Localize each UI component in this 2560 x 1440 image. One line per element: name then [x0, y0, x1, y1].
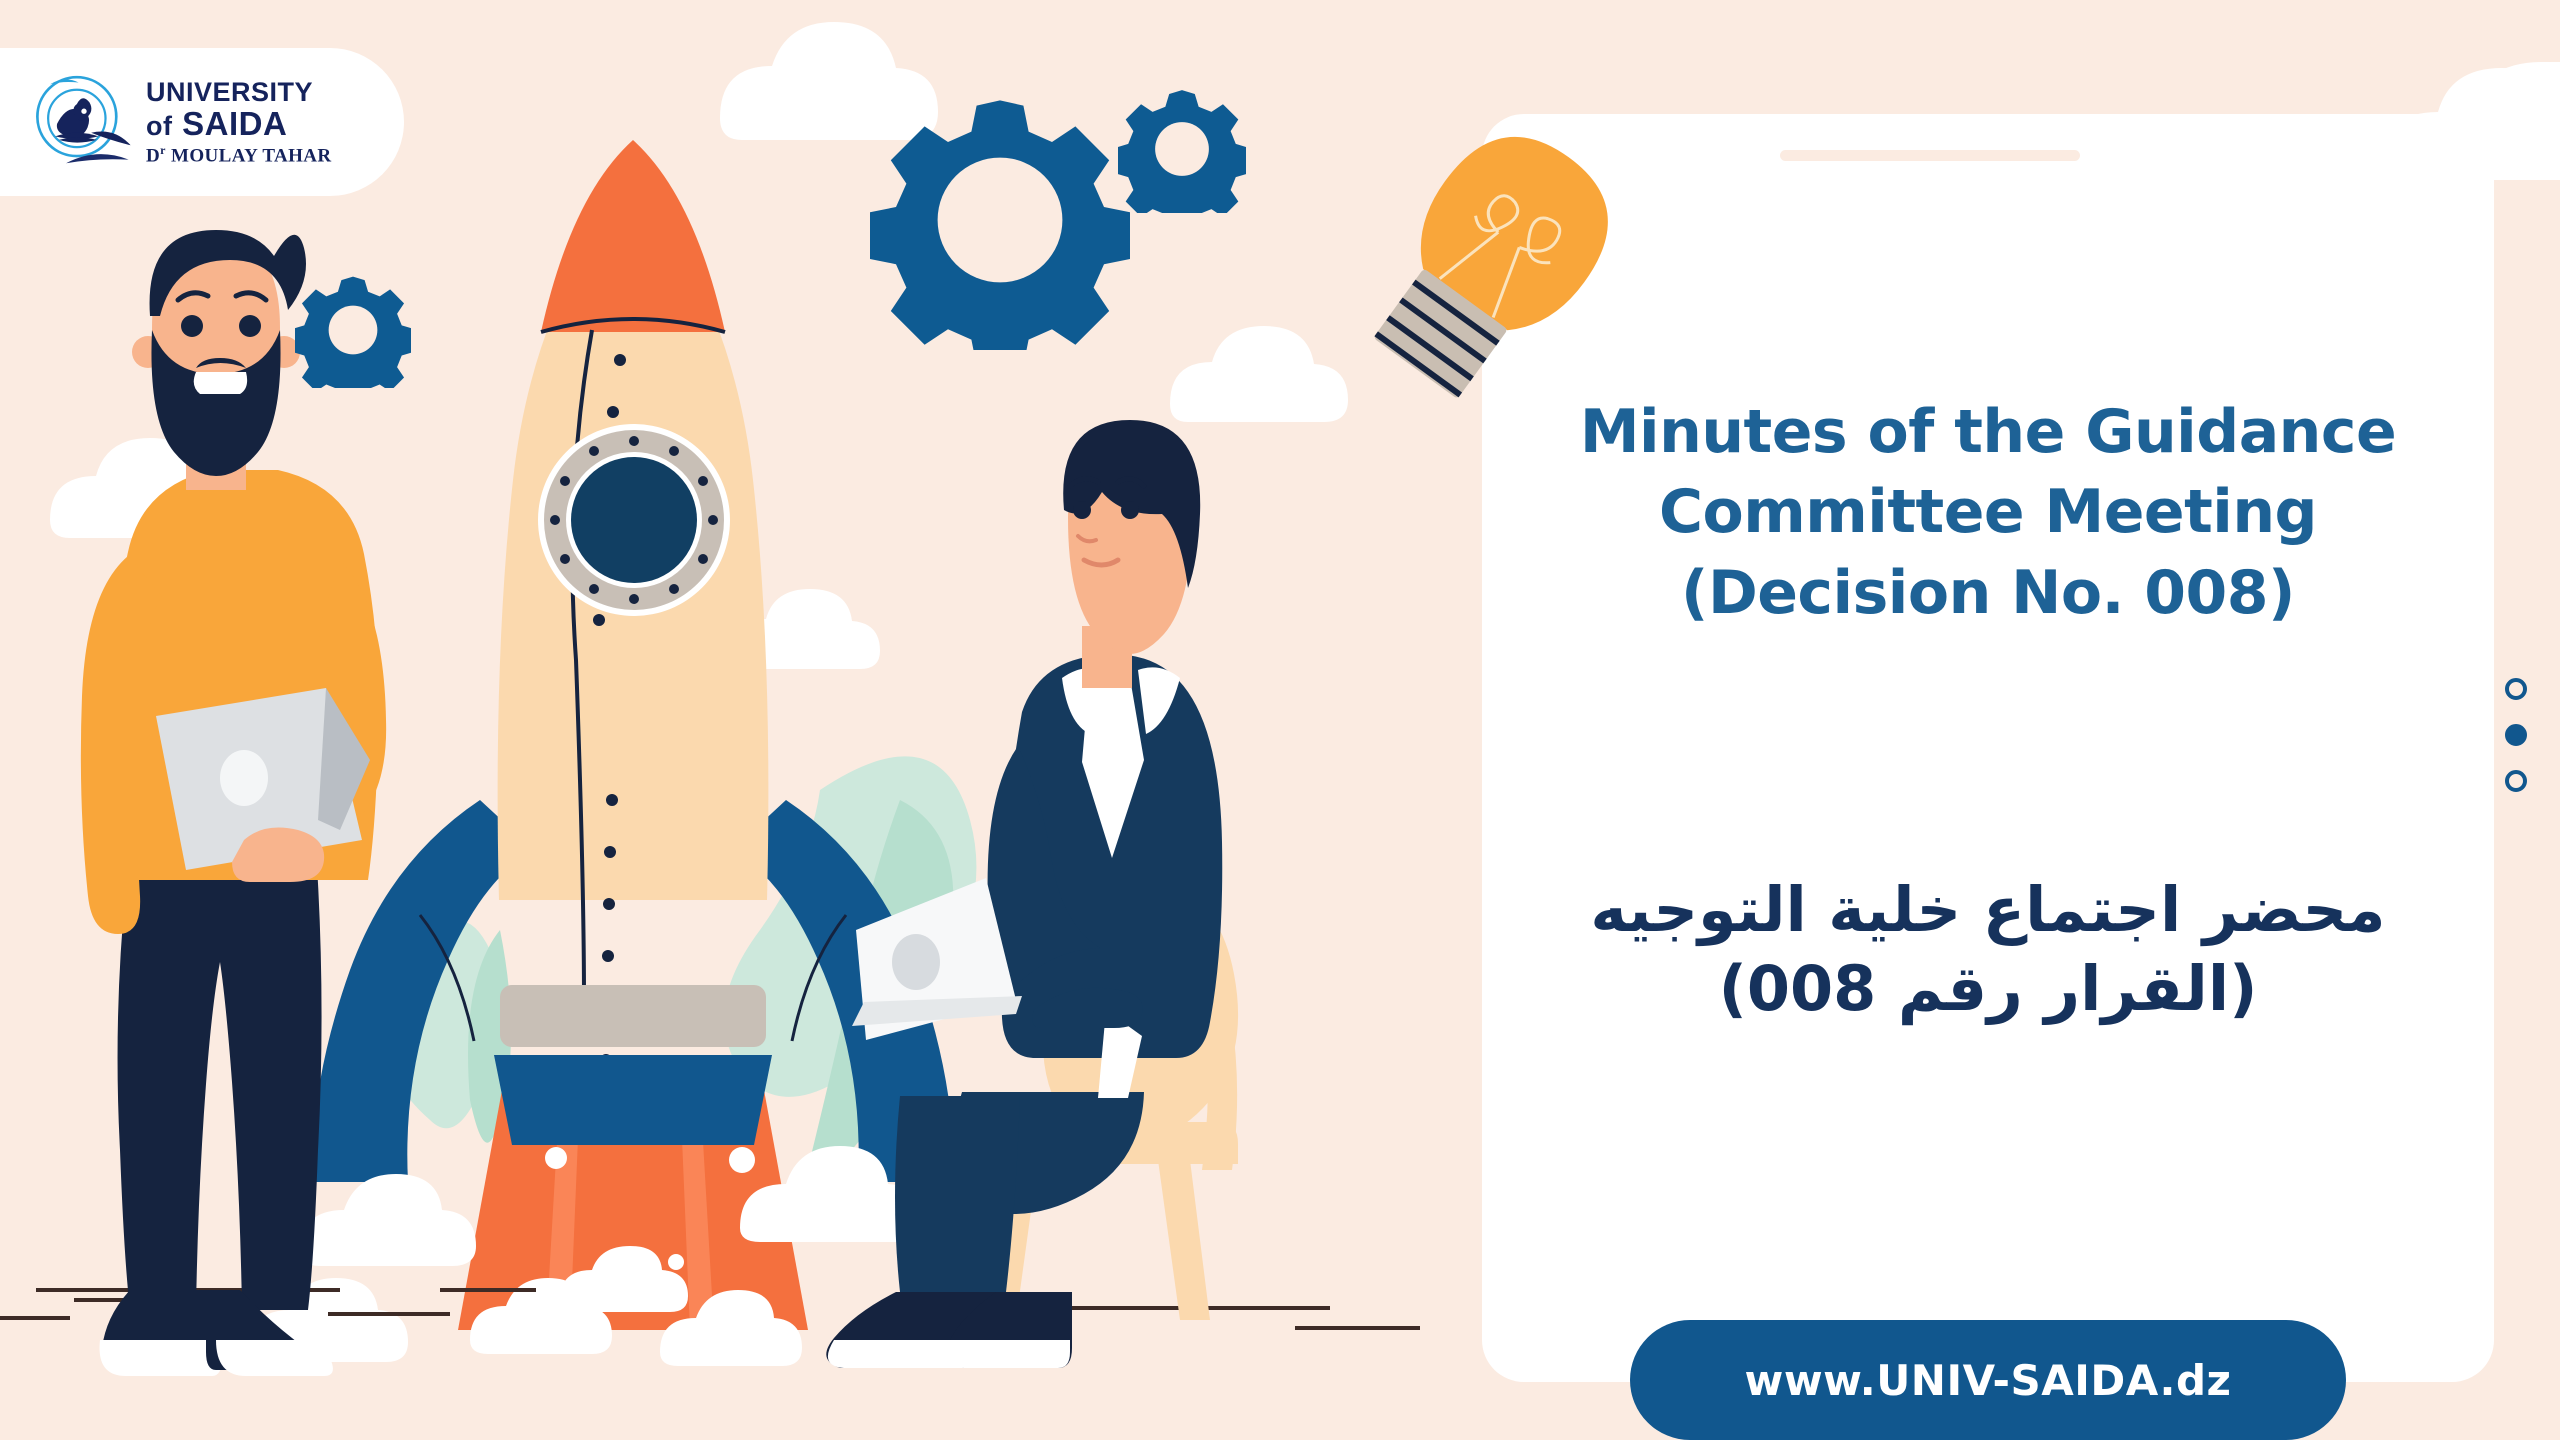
logo-line-moulay-tahar: Dr MOULAY TAHAR [146, 144, 332, 165]
gear-small-left-icon [295, 272, 411, 388]
standing-man-with-laptop [81, 230, 386, 1376]
university-logo-badge[interactable]: UNIVERSITY of SAIDA Dr MOULAY TAHAR [0, 48, 404, 196]
carousel-dot-1[interactable] [2505, 678, 2527, 700]
logo-line-of-saida: of SAIDA [146, 107, 332, 140]
logo-moulay-tahar: MOULAY TAHAR [166, 145, 332, 166]
lightbulb-icon [1352, 116, 1642, 416]
logo-dr-prefix: D [146, 145, 160, 166]
gear-small-top-icon [1118, 85, 1246, 213]
logo-line-university: UNIVERSITY [146, 79, 332, 106]
card-decor-bar [1780, 150, 2080, 161]
rocket-body [494, 140, 772, 1145]
carousel-dot-3[interactable] [2505, 770, 2527, 792]
gear-large-icon [870, 90, 1130, 350]
poster-canvas: Minutes of the Guidance Committee Meetin… [0, 0, 2560, 1440]
logo-saida: SAIDA [182, 105, 287, 142]
carousel-dots[interactable] [2505, 678, 2527, 816]
page-title-arabic: محضر اجتماع خلية التوجيه (القرار رقم 008… [1522, 870, 2454, 1029]
website-button[interactable]: www.UNIV-SAIDA.dz [1630, 1320, 2346, 1440]
university-emblem-icon [30, 70, 138, 174]
rocket-team-illustration [0, 0, 1482, 1440]
title-ar-line1: محضر اجتماع خلية التوجيه [1522, 870, 2454, 949]
title-ar-line2: (القرار رقم 008) [1522, 949, 2454, 1028]
page-title-english: Minutes of the Guidance Committee Meetin… [1522, 392, 2454, 633]
logo-of: of [146, 111, 172, 141]
title-en-line1: Minutes of the Guidance [1522, 392, 2454, 472]
title-en-line2: Committee Meeting [1522, 472, 2454, 552]
university-logo-text: UNIVERSITY of SAIDA Dr MOULAY TAHAR [146, 79, 332, 165]
carousel-dot-2[interactable] [2505, 724, 2527, 746]
title-en-line3: (Decision No. 008) [1522, 553, 2454, 633]
